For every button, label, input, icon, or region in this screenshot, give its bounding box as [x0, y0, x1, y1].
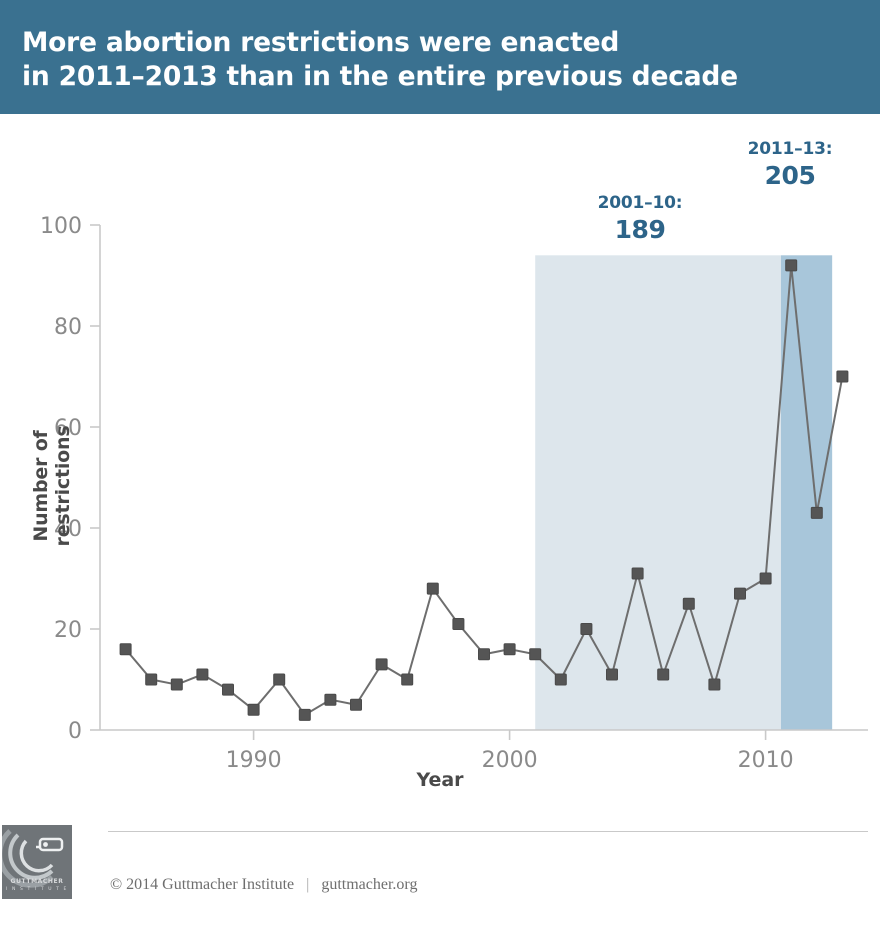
logo-wordmark-main: GUTTMACHER	[11, 878, 64, 885]
guttmacher-logo: GUTTMACHER I N S T I T U T E	[2, 825, 72, 899]
line-chart-svg: 020406080100199020002010 1985: 161986: 1…	[0, 114, 880, 809]
annotation-2001-10-value: 189	[540, 216, 740, 244]
annotation-2011-13-value: 205	[690, 162, 880, 190]
data-point-1996[interactable]: 1996: 10	[402, 674, 413, 685]
data-point-1986[interactable]: 1986: 10	[146, 674, 157, 685]
annotation-2001-10-range: 2001–10:	[540, 194, 740, 213]
data-point-2004[interactable]: 2004: 11	[607, 669, 618, 680]
logo-wordmark: GUTTMACHER I N S T I T U T E	[2, 878, 72, 894]
annotation-2001-10: 2001–10: 189	[540, 194, 740, 243]
data-point-1985[interactable]: 1985: 16	[120, 644, 131, 655]
data-point-1991[interactable]: 1991: 10	[274, 674, 285, 685]
data-point-1992[interactable]: 1992: 3	[299, 709, 310, 720]
data-point-2001[interactable]: 2001: 15	[530, 649, 541, 660]
data-point-1997[interactable]: 1997: 28	[427, 583, 438, 594]
footer-credit: © 2014 Guttmacher Institute | guttmacher…	[110, 876, 417, 894]
data-point-1987[interactable]: 1987: 9	[171, 679, 182, 690]
copyright-text: © 2014 Guttmacher Institute	[110, 876, 294, 893]
page-title: More abortion restrictions were enacted …	[22, 26, 862, 94]
data-point-1994[interactable]: 1994: 5	[351, 699, 362, 710]
chart-page: More abortion restrictions were enacted …	[0, 0, 880, 925]
data-point-2009[interactable]: 2009: 27	[735, 588, 746, 599]
data-point-1998[interactable]: 1998: 21	[453, 618, 464, 629]
data-point-2002[interactable]: 2002: 10	[555, 674, 566, 685]
data-point-1989[interactable]: 1989: 8	[223, 684, 234, 695]
y-tick-label-100: 100	[40, 214, 82, 239]
data-point-2005[interactable]: 2005: 31	[632, 568, 643, 579]
data-point-2013[interactable]: 2013: 70	[837, 371, 848, 382]
logo-wordmark-sub: I N S T I T U T E	[2, 886, 72, 894]
y-tick-label-20: 20	[54, 618, 82, 643]
shaded-bands-layer	[535, 255, 832, 730]
data-point-2003[interactable]: 2003: 20	[581, 624, 592, 635]
shaded-band-2011-13	[781, 255, 832, 730]
data-point-2012[interactable]: 2012: 43	[811, 507, 822, 518]
data-point-2006[interactable]: 2006: 11	[658, 669, 669, 680]
data-point-2008[interactable]: 2008: 9	[709, 679, 720, 690]
data-point-1993[interactable]: 1993: 6	[325, 694, 336, 705]
website-link[interactable]: guttmacher.org	[321, 876, 417, 893]
header-banner: More abortion restrictions were enacted …	[0, 0, 880, 114]
data-point-2000[interactable]: 2000: 16	[504, 644, 515, 655]
x-axis-title: Year	[0, 769, 880, 791]
data-point-1999[interactable]: 1999: 15	[479, 649, 490, 660]
data-point-1988[interactable]: 1988: 11	[197, 669, 208, 680]
y-tick-label-0: 0	[68, 719, 82, 744]
footer: GUTTMACHER I N S T I T U T E © 2014 Gutt…	[0, 809, 880, 925]
y-axis-title: Number of restrictions	[30, 376, 74, 596]
data-point-1995[interactable]: 1995: 13	[376, 659, 387, 670]
data-point-2010[interactable]: 2010: 30	[760, 573, 771, 584]
data-point-2011[interactable]: 2011: 92	[786, 260, 797, 271]
data-point-1990[interactable]: 1990: 4	[248, 704, 259, 715]
data-point-2007[interactable]: 2007: 25	[683, 598, 694, 609]
footer-separator: |	[298, 876, 317, 894]
y-tick-label-80: 80	[54, 315, 82, 340]
footer-divider	[108, 831, 868, 832]
annotation-2011-13: 2011–13: 205	[690, 140, 880, 189]
annotation-2011-13-range: 2011–13:	[690, 140, 880, 159]
chart-container: 020406080100199020002010 1985: 161986: 1…	[0, 114, 880, 809]
